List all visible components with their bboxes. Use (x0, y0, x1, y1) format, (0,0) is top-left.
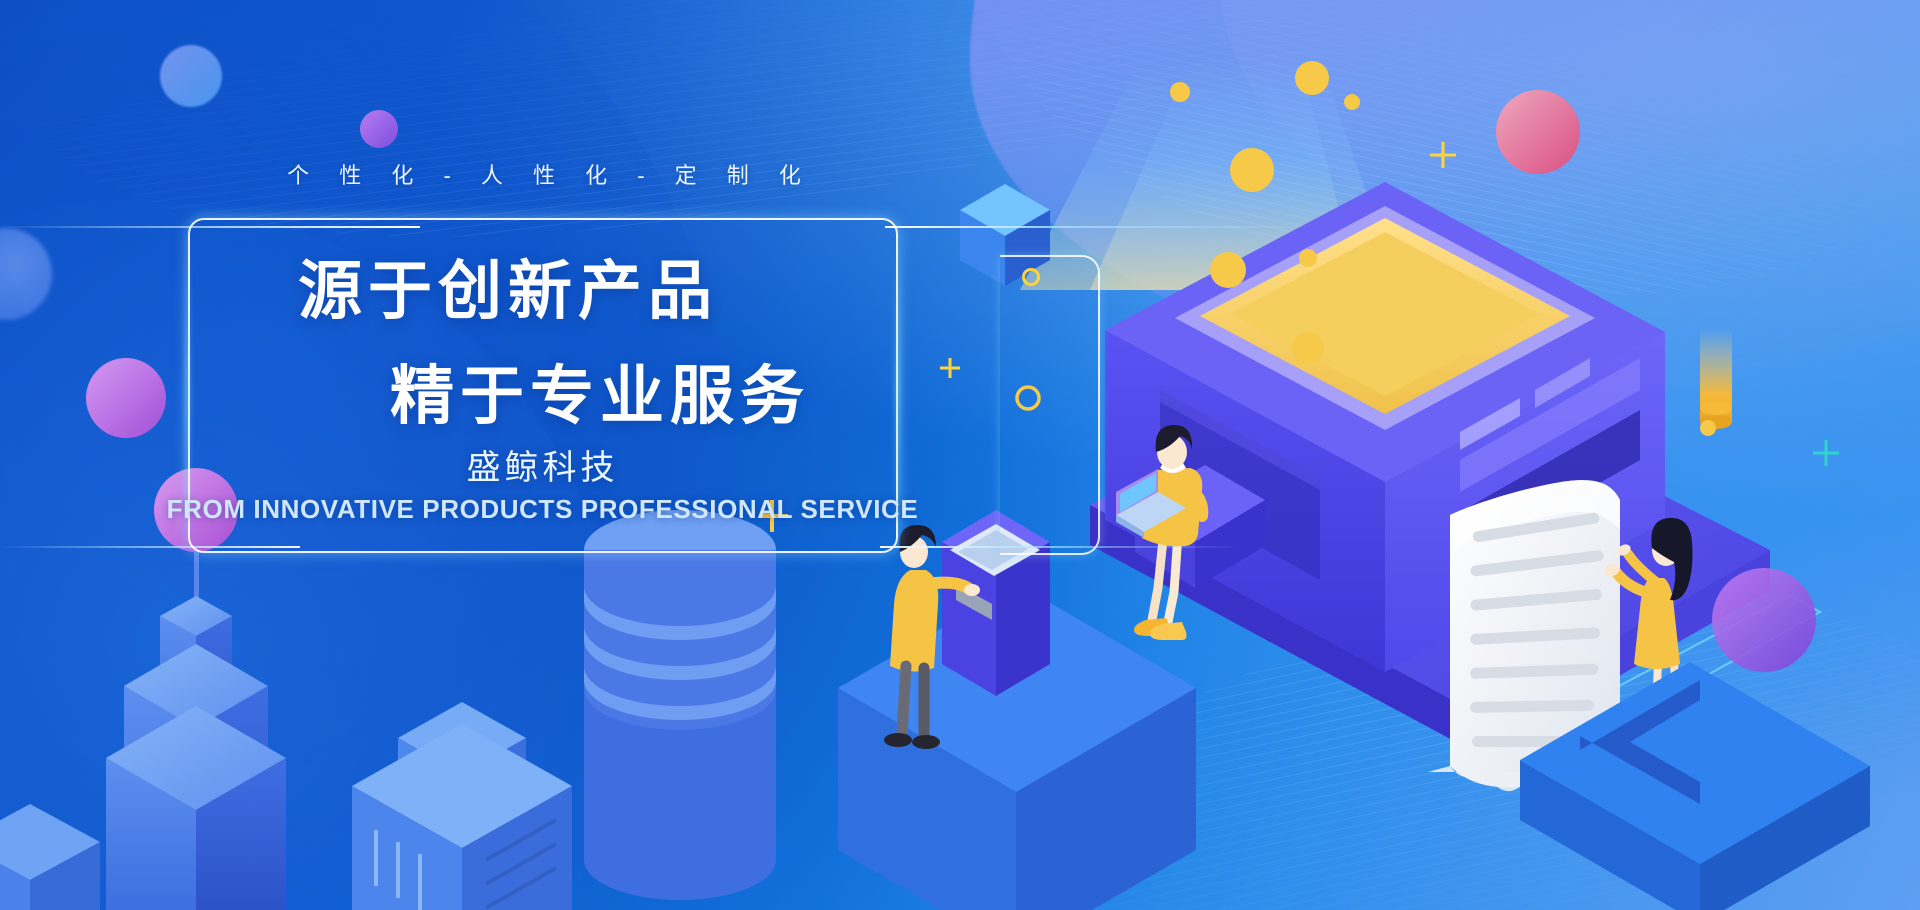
building-round-tower (584, 510, 776, 900)
floating-tube (1700, 328, 1732, 429)
building-glass-top (352, 702, 572, 910)
purple-ball (1712, 568, 1816, 672)
decor-plus-right (1430, 142, 1456, 168)
decor-dot-blue-large (160, 45, 222, 107)
decor-dot-purple-small (360, 110, 398, 148)
pink-ball (1496, 90, 1580, 174)
building-low-left (0, 804, 100, 910)
english-tagline: FROM INNOVATIVE PRODUCTS PROFESSIONAL SE… (0, 494, 1085, 525)
kicker-text: 个 性 化 - 人 性 化 - 定 制 化 (0, 158, 1100, 190)
brand-name: 盛鲸科技 (0, 440, 1085, 489)
headline-line-2: 精于专业服务 (390, 345, 810, 437)
decor-plus-mid (940, 358, 960, 378)
frame-line-top-right (885, 226, 1315, 228)
banner-stage: 个 性 化 - 人 性 化 - 定 制 化 源于创新产品 精于专业服务 盛鲸科技… (0, 0, 1920, 910)
decor-dot-purple-midleft (86, 358, 166, 438)
headline-line-1: 源于创新产品 (298, 240, 718, 332)
